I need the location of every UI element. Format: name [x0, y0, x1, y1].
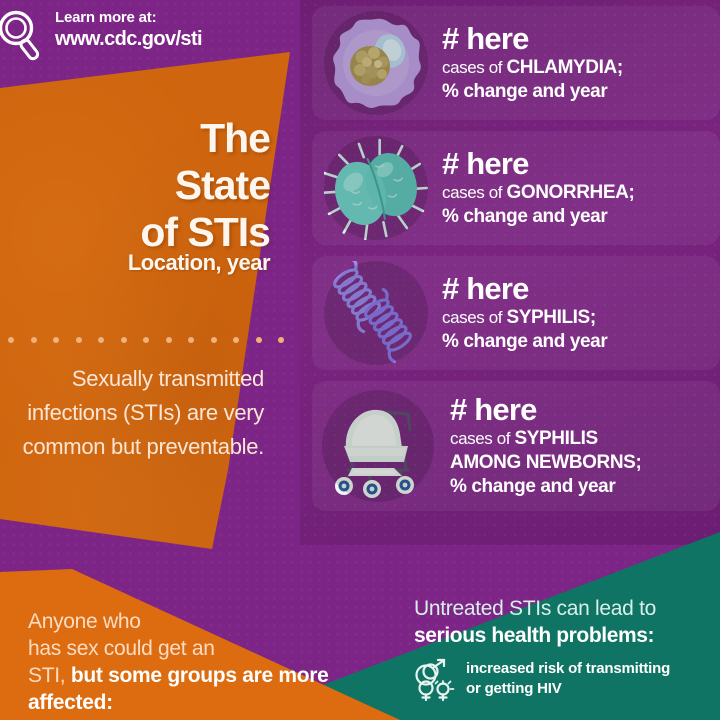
stat-lead-label: cases of [450, 429, 514, 448]
health-problems-heading: Untreated STIs can lead to serious healt… [414, 596, 720, 649]
divider-dot [256, 337, 262, 343]
stat-card-chlamydia[interactable]: # here cases of CHLAMYDIA; % change and … [312, 6, 720, 120]
health-heading-bold: serious health problems: [414, 622, 720, 649]
divider-dot [188, 337, 194, 343]
stat-number: # here [450, 393, 641, 427]
stat-change: % change and year [450, 475, 641, 499]
divider-dot [76, 337, 82, 343]
divider-dot [98, 337, 104, 343]
learn-more-block: Learn more at: www.cdc.gov/sti [55, 8, 202, 52]
stat-lead-label: cases of [442, 308, 506, 327]
syphilis-spirochete-icon [324, 261, 428, 365]
cdc-url[interactable]: www.cdc.gov/sti [55, 27, 202, 52]
health-heading-light: Untreated STIs can lead to [414, 596, 720, 622]
page-subtitle: Location, year [20, 250, 270, 276]
icon-backdrop [324, 261, 428, 365]
divider-dot [31, 337, 37, 343]
gonorrhea-bacteria-icon [324, 136, 428, 240]
divider-dot [8, 337, 14, 343]
stat-number: # here [442, 147, 634, 181]
stat-disease-name: GONORRHEA; [506, 182, 634, 203]
health-problem-text-line-1: increased risk of transmitting [466, 659, 670, 679]
stat-text-chlamydia: # here cases of CHLAMYDIA; % change and … [442, 22, 623, 104]
divider-dot [233, 337, 239, 343]
divider-dot [166, 337, 172, 343]
stat-disease-line-2: AMONG NEWBORNS; [450, 451, 641, 475]
title-line-3: of STIs [20, 209, 270, 256]
health-problem-text-line-2: or getting HIV [466, 679, 670, 699]
divider-dot [278, 337, 284, 343]
learn-more-label: Learn more at: [55, 8, 202, 27]
stat-lead-label: cases of [442, 183, 506, 202]
title-line-2: State [20, 162, 270, 209]
stat-disease-line: cases of SYPHILIS; [442, 306, 607, 330]
stat-disease-line: cases of SYPHILIS [450, 427, 641, 451]
stat-change: % change and year [442, 80, 623, 104]
health-problem-item-hiv: increased risk of transmitting or gettin… [410, 655, 720, 703]
divider-dot [121, 337, 127, 343]
affected-groups-text: Anyone who has sex could get an STI, but… [28, 608, 373, 716]
search-icon [0, 8, 48, 62]
stat-card-congenital-syphilis[interactable]: # here cases of SYPHILIS AMONG NEWBORNS;… [312, 381, 720, 511]
chlamydia-cell-icon [324, 11, 428, 115]
icon-backdrop [324, 136, 428, 240]
stat-change: % change and year [442, 205, 634, 229]
divider-dot [53, 337, 59, 343]
affected-line-2: has sex could get an [28, 635, 373, 662]
title-line-1: The [20, 115, 270, 162]
affected-line-1: Anyone who [28, 608, 373, 635]
stat-disease-line: cases of GONORRHEA; [442, 181, 634, 205]
stat-disease-line: cases of CHLAMYDIA; [442, 56, 623, 80]
page-title: The State of STIs [20, 115, 270, 256]
stat-number: # here [442, 22, 623, 56]
gender-symbols-icon [410, 657, 456, 703]
hero-paragraph: Sexually transmitted infections (STIs) a… [6, 362, 264, 464]
health-problem-text: increased risk of transmitting or gettin… [466, 655, 670, 699]
stat-card-syphilis[interactable]: # here cases of SYPHILIS; % change and y… [312, 256, 720, 370]
header: Learn more at: www.cdc.gov/sti [0, 4, 300, 66]
baby-stroller-icon [322, 390, 434, 502]
stat-text-syphilis: # here cases of SYPHILIS; % change and y… [442, 272, 607, 354]
stat-disease-name: SYPHILIS; [506, 307, 595, 328]
icon-backdrop [324, 11, 428, 115]
divider-dot [143, 337, 149, 343]
infographic-root: Learn more at: www.cdc.gov/sti The State… [0, 0, 720, 720]
stat-text-gonorrhea: # here cases of GONORRHEA; % change and … [442, 147, 634, 229]
affected-bold-text: but some groups are more affected: [28, 664, 329, 714]
stat-disease-name: CHLAMYDIA; [506, 57, 622, 78]
stat-number: # here [442, 272, 607, 306]
stat-card-gonorrhea[interactable]: # here cases of GONORRHEA; % change and … [312, 131, 720, 245]
stat-change: % change and year [442, 330, 607, 354]
stat-disease-name: SYPHILIS [514, 428, 597, 449]
icon-backdrop [322, 390, 434, 502]
stat-lead-label: cases of [442, 58, 506, 77]
divider-dot [211, 337, 217, 343]
stat-text-congenital-syphilis: # here cases of SYPHILIS AMONG NEWBORNS;… [450, 393, 641, 499]
dotted-divider [8, 337, 284, 343]
affected-line-3: STI, [28, 664, 65, 687]
